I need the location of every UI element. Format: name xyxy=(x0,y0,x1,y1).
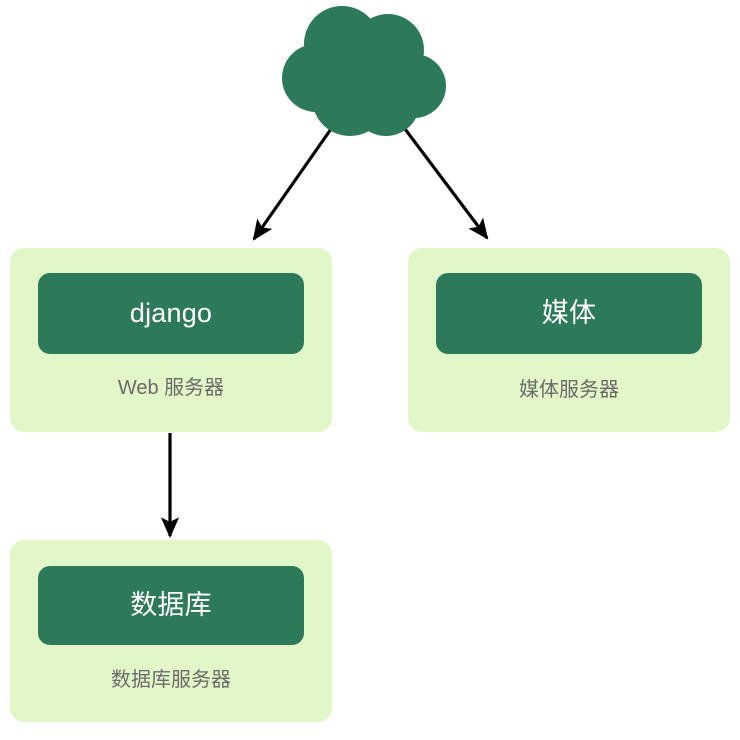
edge-cloud-to-web xyxy=(254,129,331,239)
group-web-server[interactable]: django Web 服务器 xyxy=(10,248,332,432)
diagram-canvas: django Web 服务器 媒体 媒体服务器 数据库 数据库服务器 xyxy=(0,0,740,740)
group-media-server-label: 媒体服务器 xyxy=(408,380,730,400)
node-database-label: 数据库 xyxy=(130,592,212,619)
group-database-server-label: 数据库服务器 xyxy=(10,670,332,690)
group-web-server-label: Web 服务器 xyxy=(10,378,332,398)
node-database[interactable]: 数据库 xyxy=(38,566,304,645)
node-media-label: 媒体 xyxy=(542,300,596,327)
edge-cloud-to-media xyxy=(402,125,487,238)
group-media-server[interactable]: 媒体 媒体服务器 xyxy=(408,248,730,432)
cloud-node[interactable] xyxy=(280,6,450,140)
node-django[interactable]: django xyxy=(38,273,304,354)
group-database-server[interactable]: 数据库 数据库服务器 xyxy=(10,540,332,722)
node-media[interactable]: 媒体 xyxy=(436,273,702,354)
cloud-icon xyxy=(280,6,450,140)
node-django-label: django xyxy=(130,300,212,327)
